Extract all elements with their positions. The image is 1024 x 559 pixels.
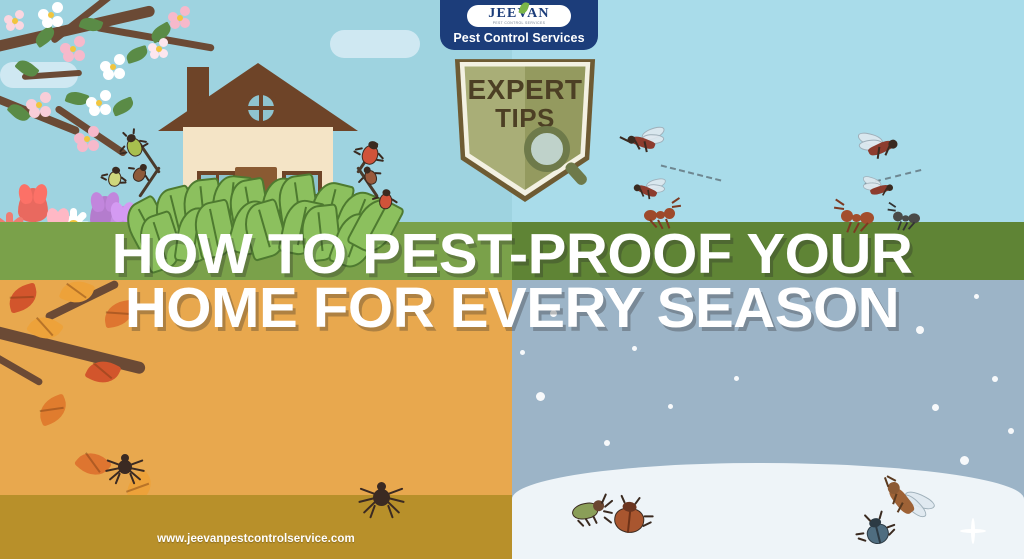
sparkle-icon [960, 518, 986, 544]
snowflake [520, 350, 525, 355]
magnifier-handle [563, 160, 589, 187]
spider-icon [362, 480, 398, 514]
snowflake [734, 376, 739, 381]
snowflake [668, 404, 673, 409]
snowflake [992, 376, 998, 382]
poster-canvas: JEEVAN PEST CONTROL SERVICES Pest Contro… [0, 0, 1024, 559]
leaf-icon [519, 1, 530, 15]
website-url[interactable]: www.jeevanpestcontrolservice.com [0, 533, 512, 545]
shield-label: EXPERT TIPS [452, 76, 598, 131]
falling-leaf [35, 393, 72, 426]
shield-line-1: EXPERT [452, 76, 598, 105]
brand-logo-badge[interactable]: JEEVAN PEST CONTROL SERVICES Pest Contro… [440, 0, 598, 50]
snowflake [960, 456, 969, 465]
snowflake [604, 440, 610, 446]
headline-line-2: HOME FOR EVERY SEASON [0, 282, 1024, 336]
magnifier-lens [524, 126, 570, 172]
round-window [243, 90, 279, 126]
brand-tagline: Pest Control Services [453, 31, 584, 45]
brand-name: JEEVAN [488, 7, 549, 21]
snowflake [632, 346, 637, 351]
headline-line-1: HOW TO PEST-PROOF YOUR [0, 228, 1024, 282]
expert-tips-shield: EXPERT TIPS [452, 50, 598, 202]
flight-path [661, 165, 722, 182]
arrow-indicator [142, 140, 172, 200]
logo-pill: JEEVAN PEST CONTROL SERVICES [467, 5, 571, 27]
snowflake [932, 404, 939, 411]
spider-icon [108, 452, 140, 482]
snowflake [1008, 428, 1014, 434]
snowflake [536, 392, 545, 401]
falling-leaf [74, 445, 112, 483]
page-title: HOW TO PEST-PROOF YOUR HOME FOR EVERY SE… [0, 228, 1024, 335]
brand-subtitle: PEST CONTROL SERVICES [493, 22, 546, 25]
magnifier-icon [524, 126, 586, 188]
autumn-ground [0, 495, 512, 559]
